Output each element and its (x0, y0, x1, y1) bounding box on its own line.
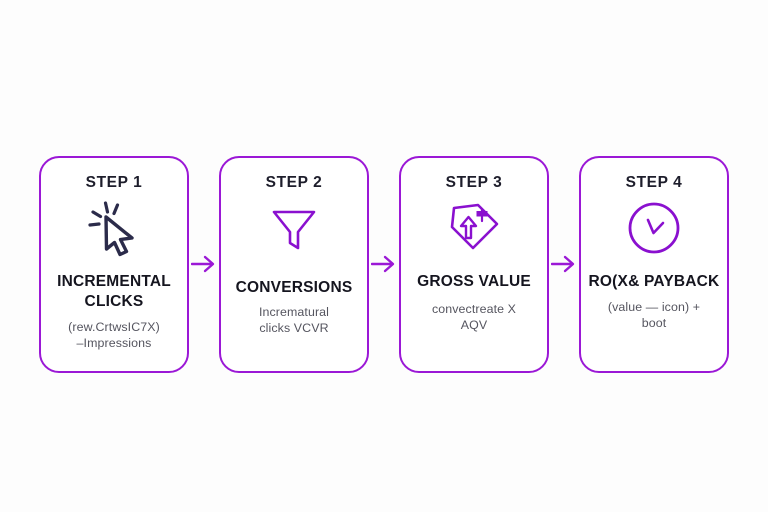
card-subtitle-line: boot (608, 315, 700, 331)
connector-2 (369, 156, 399, 373)
process-flow-diagram: STEP 1 INCREMENTAL CLICKS (rew.CrtwsIC7X… (0, 0, 768, 512)
card-subtitle-line: –Impressions (68, 335, 160, 351)
price-tag-icon (401, 192, 547, 264)
card-subtitle: convectreate X AQV (426, 301, 522, 334)
step-label: STEP 3 (446, 175, 503, 191)
card-subtitle-line: convectreate X (432, 301, 516, 317)
connector-1 (189, 156, 219, 373)
card-subtitle-line: (value — icon) + (608, 299, 700, 315)
card-subtitle-line: (rew.CrtwsIC7X) (68, 319, 160, 335)
card-subtitle-line: Incrematural (259, 304, 329, 320)
step-label: STEP 1 (86, 175, 143, 191)
connector-3 (549, 156, 579, 373)
arrow-right-icon (191, 254, 217, 274)
funnel-icon (221, 192, 367, 264)
card-subtitle: (rew.CrtwsIC7X) –Impressions (62, 319, 166, 352)
card-title: INCREMENTAL CLICKS (41, 272, 187, 312)
card-title: GROSS VALUE (411, 272, 537, 292)
card-subtitle: (value — icon) + boot (602, 299, 706, 332)
card-subtitle-line: AQV (432, 317, 516, 333)
card-subtitle-line: clicks VCVR (259, 320, 329, 336)
arrow-right-icon (551, 254, 577, 274)
cursor-click-icon (41, 192, 187, 264)
card-title: CONVERSIONS (230, 278, 359, 298)
card-title: RO(X& PAYBACK (583, 272, 726, 292)
card-subtitle: Incrematural clicks VCVR (253, 304, 335, 337)
step-card-3[interactable]: STEP 3 GROSS VALUE convectreate X AQV (399, 156, 549, 373)
step-label: STEP 2 (266, 175, 323, 191)
flow-row: STEP 1 INCREMENTAL CLICKS (rew.CrtwsIC7X… (0, 155, 768, 373)
clock-icon (581, 192, 727, 264)
step-card-1[interactable]: STEP 1 INCREMENTAL CLICKS (rew.CrtwsIC7X… (39, 156, 189, 373)
arrow-right-icon (371, 254, 397, 274)
step-card-4[interactable]: STEP 4 RO(X& PAYBACK (value — icon) + bo… (579, 156, 729, 373)
step-label: STEP 4 (626, 175, 683, 191)
step-card-2[interactable]: STEP 2 CONVERSIONS Incrematural clicks V… (219, 156, 369, 373)
